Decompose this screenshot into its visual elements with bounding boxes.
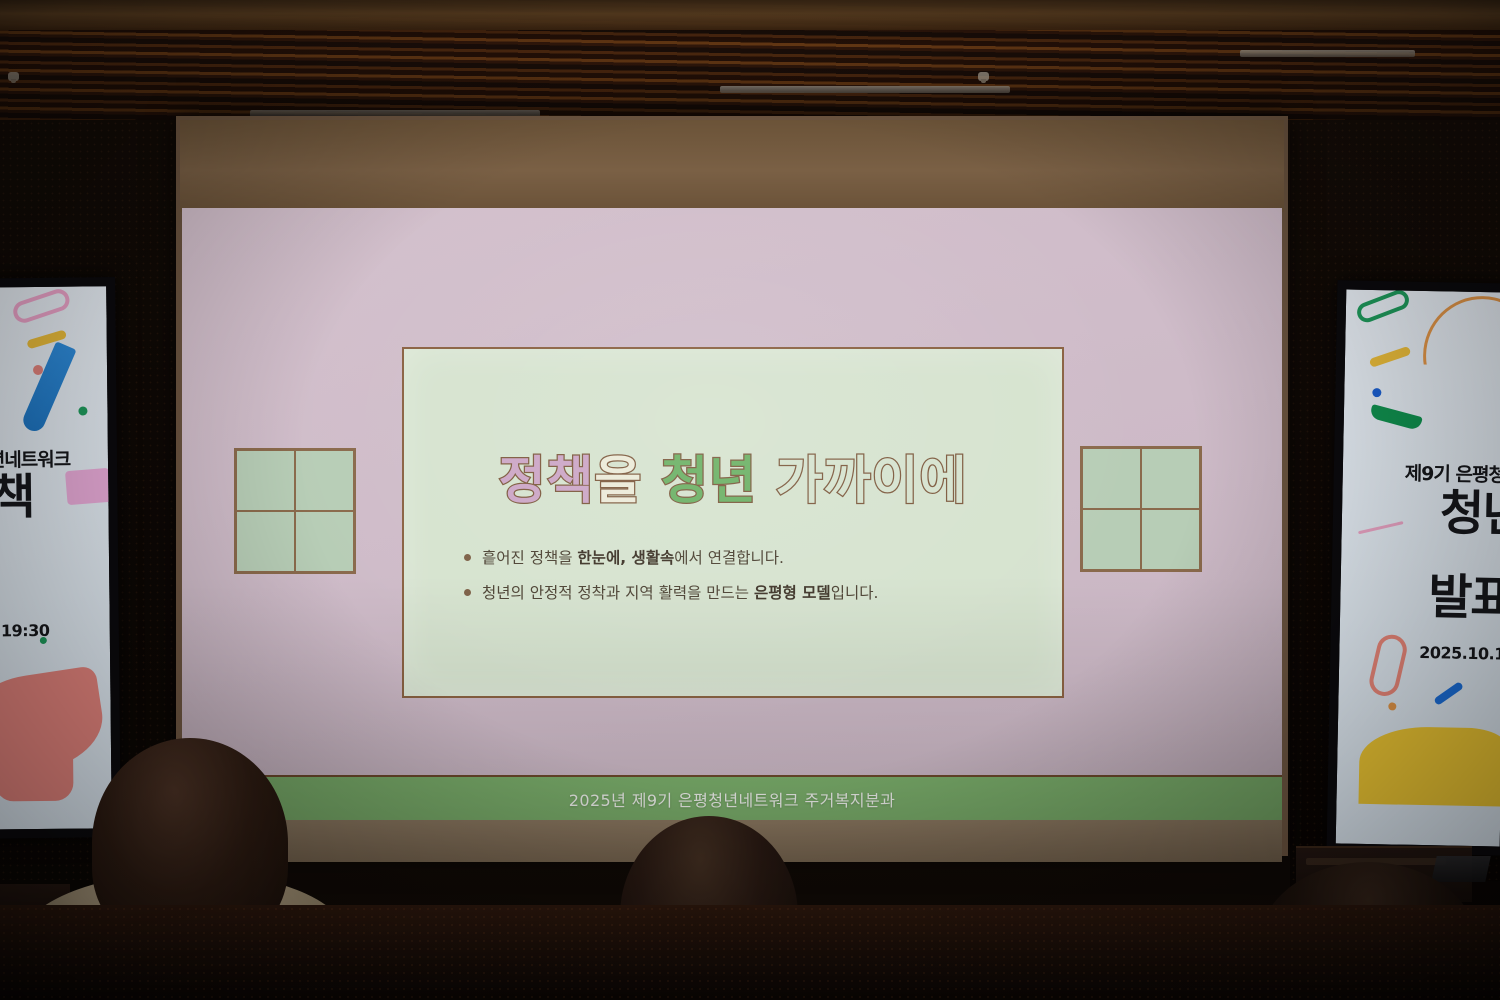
blue-pen-icon — [20, 341, 77, 434]
digital-signage-left[interactable]: 년네트워크 정책 회 (목) 19:30 — [0, 277, 121, 839]
bullet-dot-icon — [464, 554, 471, 561]
slide-footer-band: 2025년 제9기 은평청년네트워크 주거복지분과 — [182, 775, 1282, 820]
poster-left-line3: 회 — [0, 545, 47, 594]
window-pane — [1141, 509, 1200, 570]
sprinkler-head-icon — [8, 72, 19, 81]
projection-screen-top-band — [180, 120, 1284, 212]
bullet-item: 청년의 안정적 정착과 지역 활력을 만드는 은평형 모델입니다. — [464, 582, 1022, 605]
presentation-room-photo: 정책을 청년 가까이에 흩어진 정책을 한눈에, 생활속에서 연결합니다. 청년… — [0, 0, 1500, 1000]
dot-decoration-icon — [78, 406, 87, 415]
pink-line-icon — [1358, 521, 1404, 534]
window-pane — [295, 511, 354, 572]
poster-right-line2: 청년 — [1400, 489, 1500, 540]
title-word-particle: 을 — [594, 439, 642, 513]
window-pane — [295, 450, 354, 511]
window-grid-decoration-left — [234, 448, 356, 574]
sprinkler-head-icon — [978, 72, 989, 81]
slide-title: 정책을 청년 가까이에 — [404, 439, 1062, 513]
event-poster-left: 년네트워크 정책 회 (목) 19:30 — [0, 286, 112, 829]
title-word-policy: 정책 — [499, 439, 595, 513]
slide-footer-text: 2025년 제9기 은평청년네트워크 주거복지분과 — [569, 787, 895, 811]
dot-decoration-icon — [1388, 702, 1396, 710]
bullet-dot-icon — [464, 589, 471, 596]
title-word-closer: 가까이에 — [776, 439, 968, 513]
ceiling-upper-band — [0, 0, 1500, 30]
window-pane — [236, 450, 295, 511]
title-word-youth: 청년 — [661, 439, 757, 513]
window-pane — [1082, 448, 1141, 509]
poster-right-line1: 제9기 은평청 — [1373, 458, 1500, 488]
green-pen-icon — [1369, 404, 1423, 431]
dot-decoration-icon — [40, 637, 47, 644]
digital-signage-right[interactable]: 제9기 은평청 청년 발표 2025.10.16 — [1327, 280, 1500, 855]
window-grid-decoration-right — [1080, 446, 1202, 572]
poster-left-line2: 정책 — [0, 473, 63, 522]
floor-texture — [0, 905, 1500, 1000]
bullet-item: 흩어진 정책을 한눈에, 생활속에서 연결합니다. — [464, 547, 1022, 570]
yellow-book-icon — [1358, 726, 1500, 807]
orange-curve-icon — [1422, 295, 1500, 417]
slide-bullet-list: 흩어진 정책을 한눈에, 생활속에서 연결합니다. 청년의 안정적 정착과 지역… — [464, 547, 1022, 618]
slide-content-card: 정책을 청년 가까이에 흩어진 정책을 한눈에, 생활속에서 연결합니다. 청년… — [402, 347, 1064, 698]
dot-decoration-icon — [1372, 388, 1381, 397]
megaphone-shape-icon — [65, 468, 112, 505]
ceiling-light-fixture — [720, 86, 1010, 93]
blue-stroke-icon — [1433, 681, 1464, 706]
bullet-text: 청년의 안정적 정착과 지역 활력을 만드는 은평형 모델입니다. — [482, 582, 878, 605]
laptop-icon — [1431, 856, 1491, 882]
paperclip-icon — [10, 286, 72, 325]
paperclip-icon — [1354, 289, 1412, 325]
poster-right-line3: 발표 — [1388, 572, 1500, 623]
window-pane — [236, 511, 295, 572]
ceiling-light-fixture — [1240, 50, 1415, 57]
megaphone-handle-icon — [0, 739, 74, 802]
window-pane — [1141, 448, 1200, 509]
bullet-text: 흩어진 정책을 한눈에, 생활속에서 연결합니다. — [482, 547, 784, 570]
dot-decoration-icon — [33, 365, 43, 375]
window-pane — [1082, 509, 1141, 570]
event-poster-right: 제9기 은평청 청년 발표 2025.10.16 — [1336, 289, 1500, 846]
marker-stroke-icon — [1369, 346, 1412, 368]
presentation-slide: 정책을 청년 가까이에 흩어진 정책을 한눈에, 생활속에서 연결합니다. 청년… — [182, 208, 1282, 820]
paperclip-icon — [1366, 632, 1409, 699]
